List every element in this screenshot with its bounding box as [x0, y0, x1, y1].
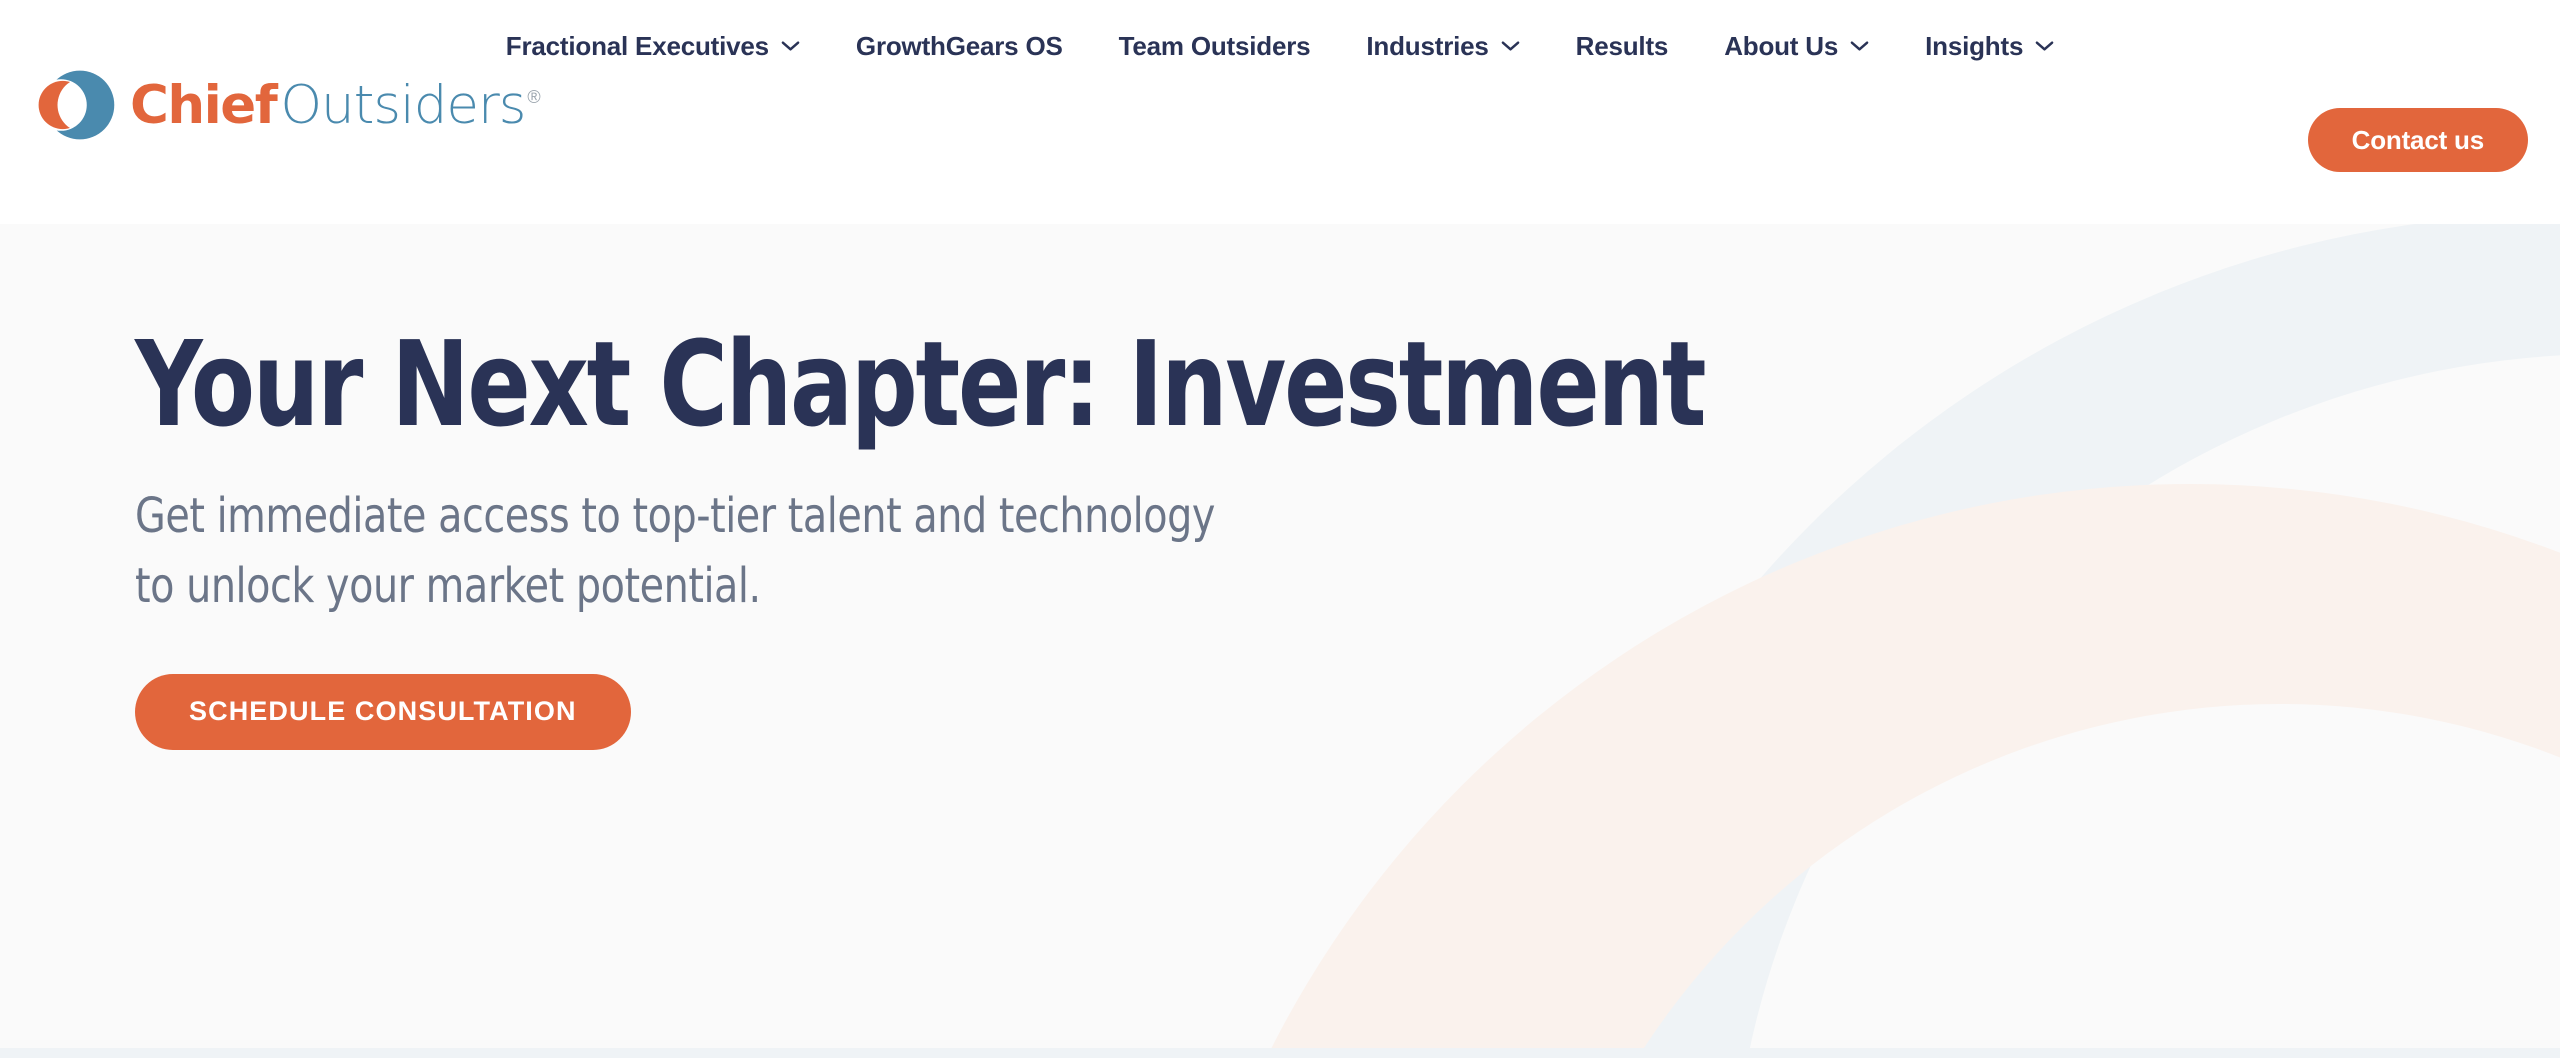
nav-item-growthgears-os[interactable]: GrowthGears OS [828, 31, 1091, 62]
chevron-down-icon [781, 40, 800, 52]
hero-subheadline-line-1: Get immediate access to top-tier talent … [135, 482, 2021, 552]
nav-label: Insights [1925, 31, 2023, 62]
chevron-down-icon [1501, 40, 1520, 52]
nav-item-industries[interactable]: Industries [1338, 31, 1547, 62]
chevron-down-icon [2035, 40, 2054, 52]
main-navigation: Fractional Executives GrowthGears OS Tea… [0, 0, 2560, 92]
nav-item-results[interactable]: Results [1548, 31, 1697, 62]
nav-label: Fractional Executives [506, 31, 769, 62]
page-root: ChiefOutsiders® Fractional Executives Gr… [0, 0, 2560, 1058]
nav-label: GrowthGears OS [856, 31, 1063, 62]
hero-subheadline-line-2: to unlock your market potential. [135, 552, 2021, 622]
hero-headline: Your Next Chapter: Investment [135, 324, 1939, 444]
nav-item-fractional-executives[interactable]: Fractional Executives [478, 31, 828, 62]
nav-item-team-outsiders[interactable]: Team Outsiders [1091, 31, 1339, 62]
schedule-consultation-button[interactable]: SCHEDULE CONSULTATION [135, 674, 631, 750]
hero-subheadline: Get immediate access to top-tier talent … [135, 482, 2021, 621]
hero-bottom-strip [0, 1048, 2560, 1058]
nav-label: About Us [1724, 31, 1838, 62]
site-header: ChiefOutsiders® Fractional Executives Gr… [0, 0, 2560, 224]
nav-item-insights[interactable]: Insights [1897, 31, 2082, 62]
nav-label: Team Outsiders [1119, 31, 1311, 62]
hero-section: Your Next Chapter: Investment Get immedi… [0, 224, 2560, 1058]
chevron-down-icon [1850, 40, 1869, 52]
nav-label: Industries [1366, 31, 1488, 62]
contact-us-button[interactable]: Contact us [2308, 108, 2528, 172]
nav-item-about-us[interactable]: About Us [1696, 31, 1897, 62]
nav-label: Results [1576, 31, 1669, 62]
hero-content: Your Next Chapter: Investment Get immedi… [135, 324, 2185, 750]
